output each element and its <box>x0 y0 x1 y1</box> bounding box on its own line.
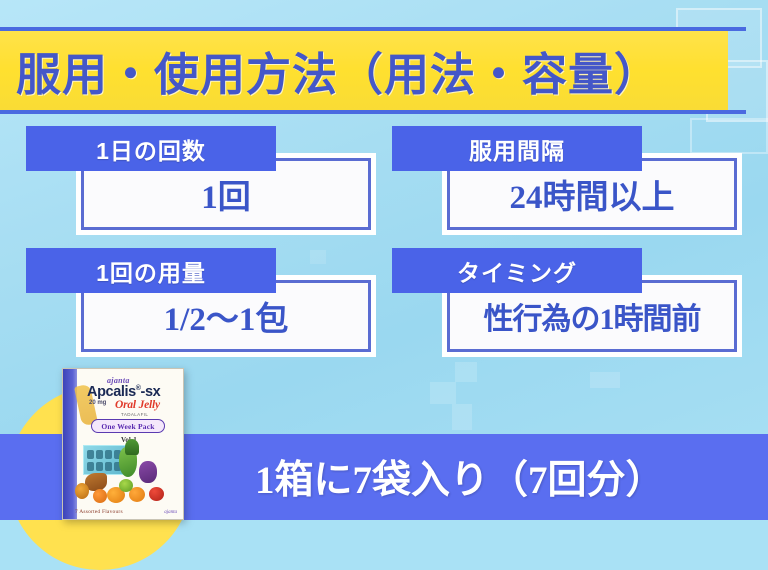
product-form: Oral Jelly <box>115 399 160 411</box>
title-banner: 服用・使用方法（用法・容量） <box>0 31 728 110</box>
dosage-card-frequency: 1回 1日の回数 <box>26 126 371 236</box>
footer-text: 1箱に7袋入り（7回分） <box>255 449 665 505</box>
product-pack-label: One Week Pack <box>101 422 154 431</box>
card-badge-label: タイミング <box>457 254 577 288</box>
product-name-main: Apcalis <box>87 384 136 400</box>
decorative-square <box>452 404 472 430</box>
card-value: 性行為の1時間前 <box>484 294 701 338</box>
card-badge-label: 服用間隔 <box>469 132 565 166</box>
product-box-face: ajanta Apcalis®-sx 20 mg Oral Jelly TADA… <box>62 368 184 520</box>
product-footer-brand: ajanta <box>164 510 177 515</box>
decorative-square <box>430 382 456 404</box>
product-ingredient: TADALAFIL <box>121 412 148 417</box>
dosage-card-amount: 1/2〜1包 1回の用量 <box>26 248 371 358</box>
title-rule-bottom <box>0 110 746 114</box>
card-badge: タイミング <box>392 248 642 293</box>
product-flavours: 7 Assorted Flavours <box>75 509 123 515</box>
card-badge: 1日の回数 <box>26 126 276 171</box>
dosage-card-timing: 性行為の1時間前 タイミング <box>392 248 737 358</box>
product-package-image: ajanta Apcalis®-sx 20 mg Oral Jelly TADA… <box>62 368 184 520</box>
product-name: Apcalis®-sx <box>87 384 160 400</box>
dosage-card-grid: 1回 1日の回数 24時間以上 服用間隔 1/2〜1包 1回の用量 性行為の1時… <box>0 126 768 368</box>
product-pack-badge: One Week Pack <box>91 419 165 433</box>
card-badge: 服用間隔 <box>392 126 642 171</box>
decorative-square <box>590 372 620 388</box>
card-value: 1/2〜1包 <box>164 292 289 340</box>
dosage-card-interval: 24時間以上 服用間隔 <box>392 126 737 236</box>
page-title: 服用・使用方法（用法・容量） <box>0 38 660 103</box>
card-badge-label: 1回の用量 <box>96 254 206 288</box>
product-dose: 20 mg <box>89 400 106 406</box>
card-badge: 1回の用量 <box>26 248 276 293</box>
card-value: 1回 <box>201 170 251 218</box>
product-name-suffix: -sx <box>141 384 161 400</box>
card-badge-label: 1日の回数 <box>96 132 206 166</box>
card-value: 24時間以上 <box>510 170 675 218</box>
